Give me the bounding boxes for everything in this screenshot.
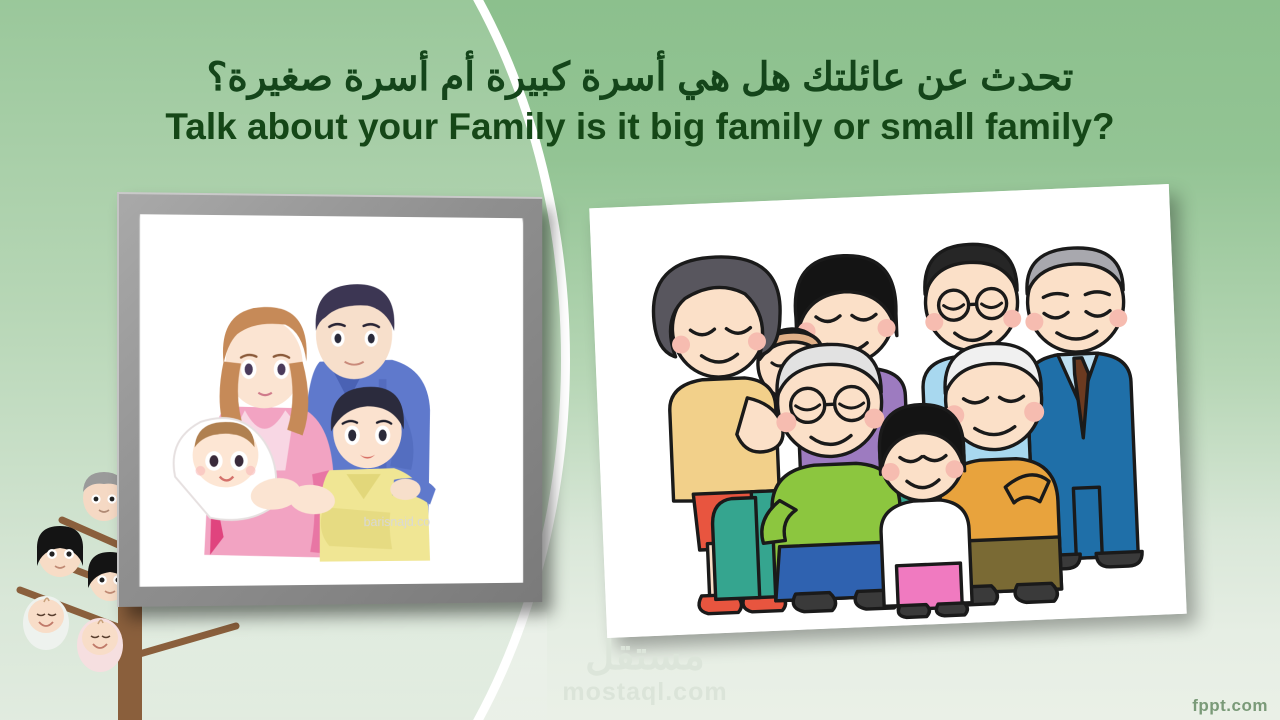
picture-frame-border: barisnajd.co — [117, 192, 542, 607]
tree-face-baby-right — [77, 618, 123, 672]
mostaql-watermark-arabic: مستقل — [545, 636, 745, 676]
fppt-watermark: fppt.com — [1192, 696, 1268, 716]
tree-face-baby-left — [23, 596, 69, 650]
right-photo-card[interactable] — [589, 184, 1186, 638]
slide-canvas: تحدث عن عائلتك هل هي أسرة كبيرة أم أسرة … — [0, 0, 1280, 720]
cartoon-family-illustration — [589, 184, 1186, 638]
cartoon-girl — [876, 403, 973, 618]
mostaql-watermark-latin: mostaql.com — [545, 678, 745, 707]
picture-frame-canvas: barisnajd.co — [139, 214, 523, 587]
mostaql-watermark: مستقل mostaql.com — [545, 636, 745, 707]
photo-source-watermark: barisnajd.co — [364, 514, 430, 529]
title-english: Talk about your Family is it big family … — [0, 107, 1280, 148]
anime-family-illustration: barisnajd.co — [139, 214, 523, 587]
left-photo-frame[interactable]: barisnajd.co — [117, 192, 542, 607]
page-title: تحدث عن عائلتك هل هي أسرة كبيرة أم أسرة … — [0, 58, 1280, 148]
title-arabic: تحدث عن عائلتك هل هي أسرة كبيرة أم أسرة … — [0, 58, 1280, 99]
